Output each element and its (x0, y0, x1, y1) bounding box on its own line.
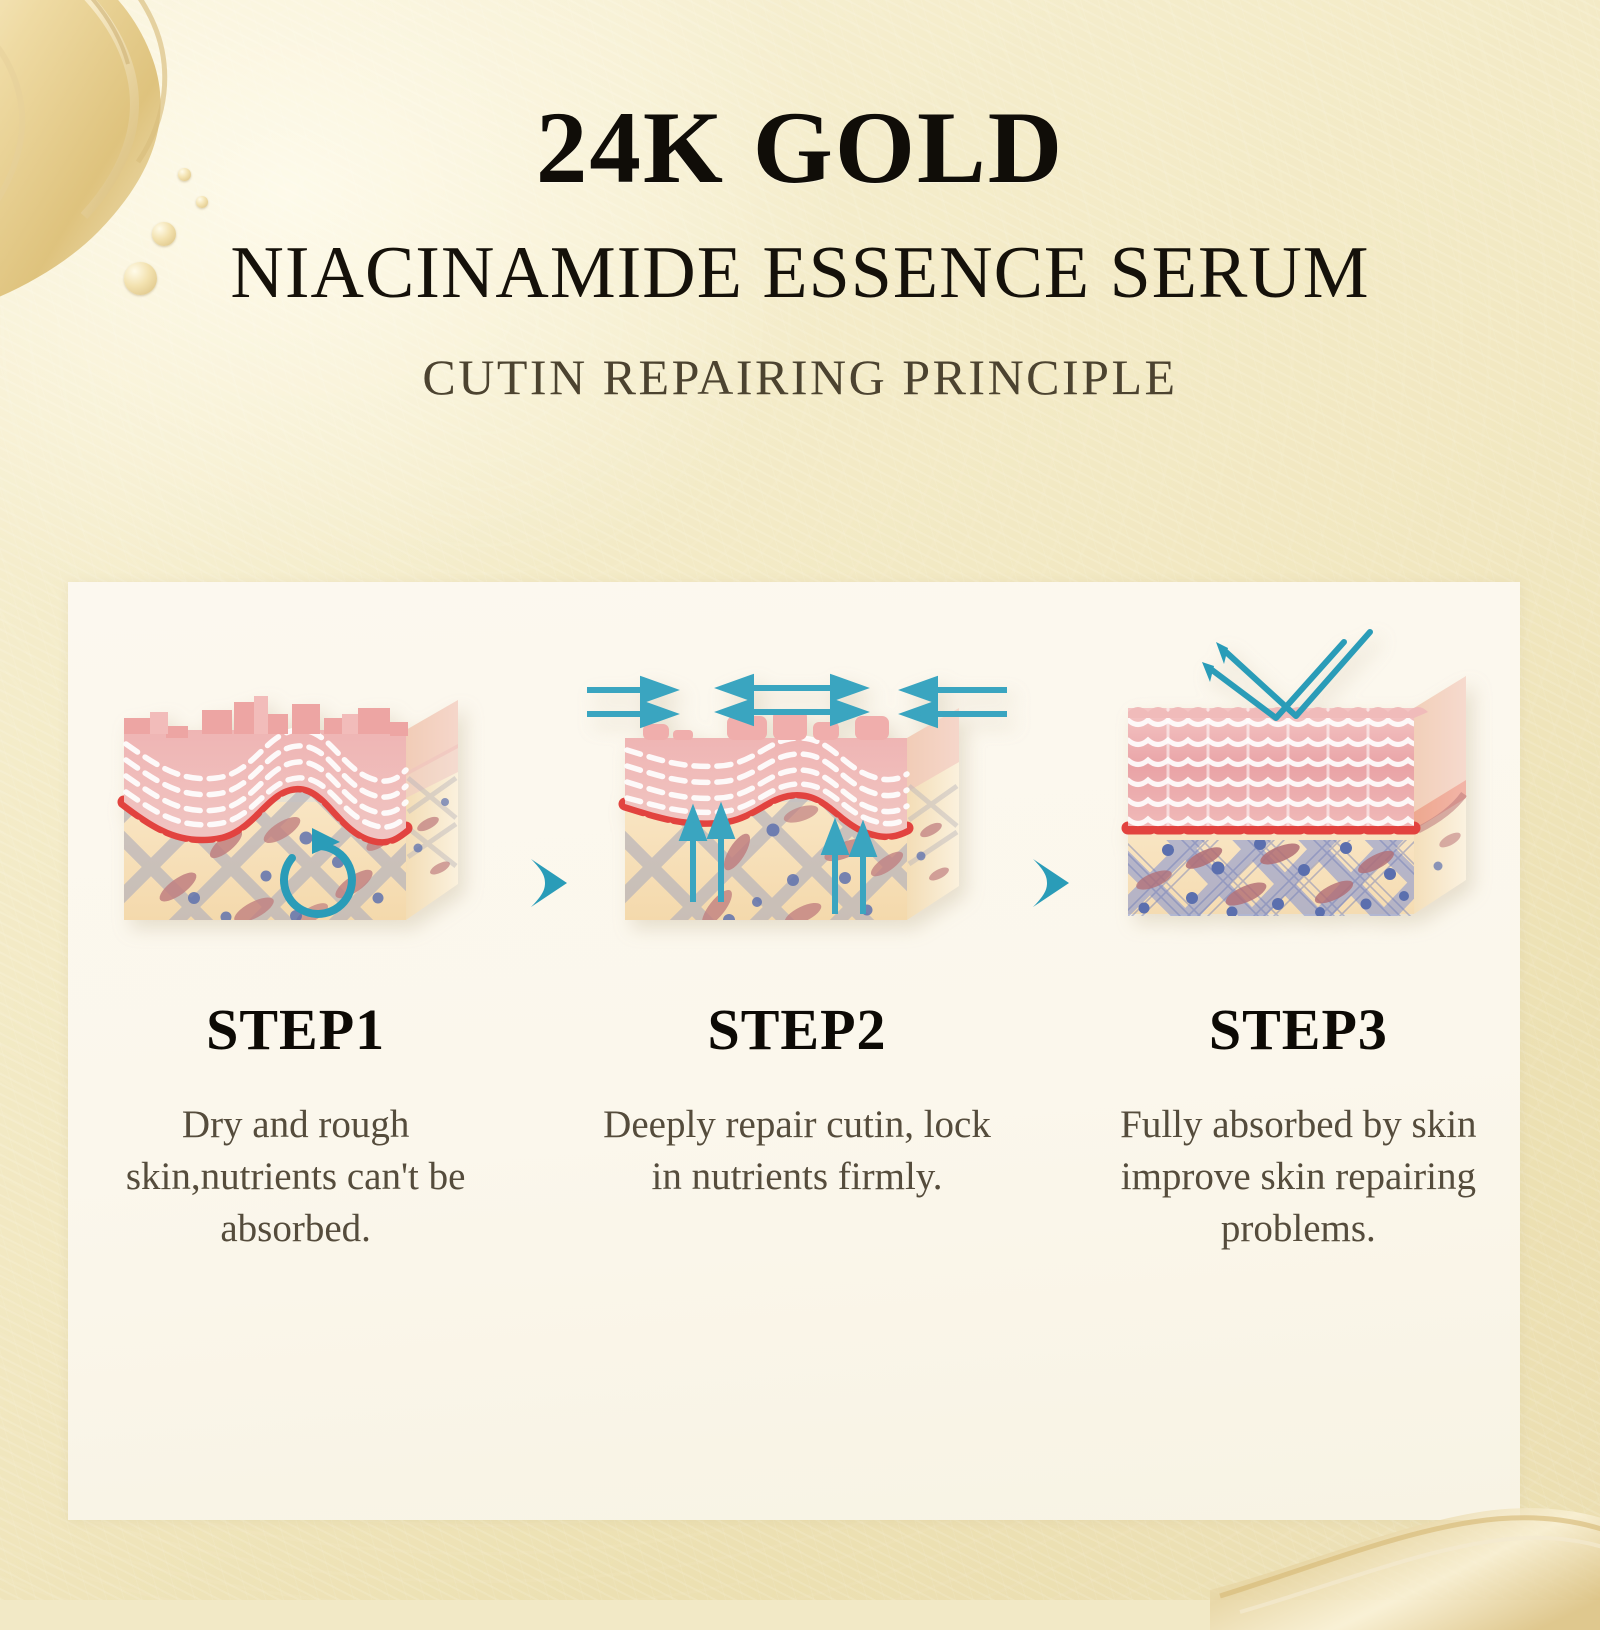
step-column-3: STEP3 Fully absorbed by skin improve ski… (1077, 582, 1520, 1255)
healthy-skin-cross-section-icon (1098, 612, 1498, 942)
step-column-1: STEP1 Dry and rough skin,nutrients can't… (74, 582, 517, 1255)
header-block: 24K GOLD NIACINAMIDE ESSENCE SERUM CUTIN… (0, 96, 1600, 404)
step2-title: STEP2 (707, 996, 886, 1063)
chevron-right-icon (523, 855, 569, 911)
page-subtitle: NIACINAMIDE ESSENCE SERUM (0, 235, 1600, 311)
poster-canvas: 24K GOLD NIACINAMIDE ESSENCE SERUM CUTIN… (0, 0, 1600, 1600)
step-column-2: STEP2 Deeply repair cutin, lock in nutri… (575, 582, 1018, 1203)
damaged-skin-cross-section-icon (106, 652, 486, 942)
step3-figure (1077, 582, 1520, 942)
light-reflection-arrows-icon (1202, 632, 1370, 718)
chevron-right-icon (1025, 855, 1071, 911)
step3-description: Fully absorbed by skin improve skin repa… (1098, 1099, 1498, 1255)
repairing-skin-cross-section-icon (587, 652, 1007, 942)
step2-figure (575, 582, 1018, 942)
step1-title: STEP1 (206, 996, 385, 1063)
page-title: 24K GOLD (0, 96, 1600, 201)
step-separator-2 (1019, 582, 1077, 1520)
principle-panel: STEP1 Dry and rough skin,nutrients can't… (68, 582, 1520, 1520)
step-separator-1 (517, 582, 575, 1520)
steps-row: STEP1 Dry and rough skin,nutrients can't… (68, 582, 1520, 1520)
step2-description: Deeply repair cutin, lock in nutrients f… (597, 1099, 997, 1203)
step1-figure (74, 582, 517, 942)
step1-description: Dry and rough skin,nutrients can't be ab… (96, 1099, 496, 1255)
step3-title: STEP3 (1209, 996, 1388, 1063)
page-tagline: CUTIN REPAIRING PRINCIPLE (0, 351, 1600, 404)
